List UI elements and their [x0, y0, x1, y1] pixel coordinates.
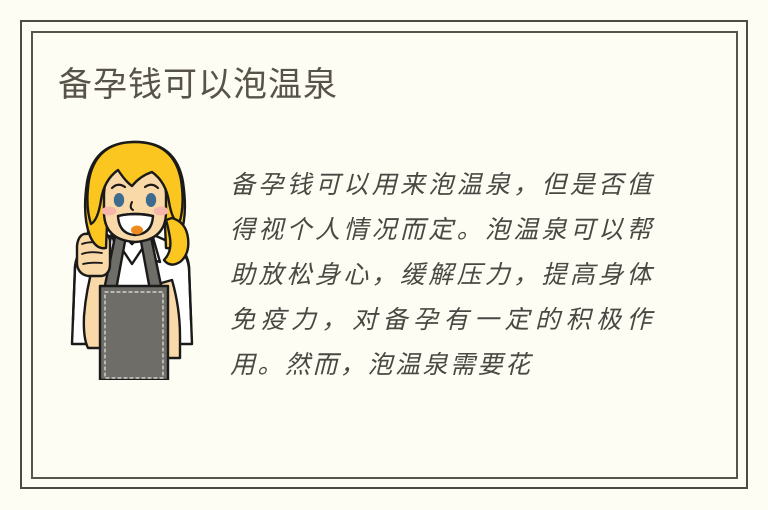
article-body: 备孕钱可以用来泡温泉，但是否值得视个人情况而定。泡温泉可以帮助放松身心，缓解压力…: [230, 162, 654, 387]
page-title: 备孕钱可以泡温泉: [58, 62, 338, 108]
woman-pointing-up-illustration: [60, 140, 210, 380]
article-card: 备孕钱可以泡温泉: [0, 0, 768, 510]
